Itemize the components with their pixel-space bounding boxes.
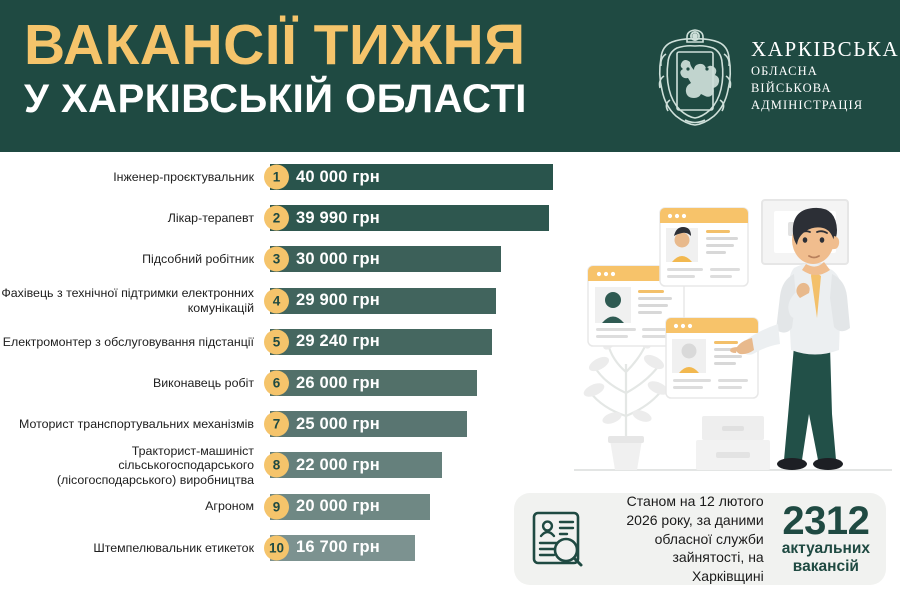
salary-bar: 29 900 грн (270, 288, 496, 314)
logo-line-3: АДМІНІСТРАЦІЯ (751, 97, 899, 114)
salary-value: 39 990 грн (296, 209, 380, 228)
job-title-label: Фахівець з технічної підтримки електронн… (0, 286, 262, 315)
vacancy-count-block: 2312 актуальних вакансій (782, 502, 870, 576)
bar-area: 40 000 грн1 (262, 162, 580, 192)
page-title: ВАКАНСІЇ ТИЖНЯ (24, 16, 624, 74)
job-title-label: Електромонтер з обслуговування підстанці… (0, 335, 262, 349)
chart-row: Електромонтер з обслуговування підстанці… (0, 327, 580, 357)
data-source-note: Станом на 12 лютого 2026 року, за даними… (598, 492, 770, 586)
bar-area: 26 000 грн6 (262, 368, 580, 398)
title-block: ВАКАНСІЇ ТИЖНЯ У ХАРКІВСЬКІЙ ОБЛАСТІ (24, 16, 624, 120)
salary-value: 25 000 грн (296, 415, 380, 434)
logo-line-2: ОБЛАСНА ВІЙСЬКОВА (751, 63, 899, 98)
salary-bar: 30 000 грн (270, 246, 501, 272)
rank-badge: 8 (264, 453, 289, 478)
rank-badge: 1 (264, 165, 289, 190)
resume-search-icon (530, 510, 586, 568)
salary-value: 30 000 грн (296, 250, 380, 269)
bar-area: 25 000 грн7 (262, 409, 580, 439)
salary-value: 26 000 грн (296, 374, 380, 393)
job-title-label: Інженер-проєктувальник (0, 170, 262, 184)
page-subtitle: У ХАРКІВСЬКІЙ ОБЛАСТІ (24, 78, 624, 120)
rank-badge: 3 (264, 247, 289, 272)
salary-value: 40 000 грн (296, 168, 380, 187)
salary-bar: 25 000 грн (270, 411, 467, 437)
chart-row: Агроном20 000 грн9 (0, 492, 580, 522)
salary-bar: 22 000 грн (270, 452, 442, 478)
chart-row: Лікар-терапевт39 990 грн2 (0, 203, 580, 233)
job-title-label: Штемпелювальник етикеток (0, 541, 262, 555)
cabinet-icon (696, 416, 770, 470)
infographic-canvas: ВАКАНСІЇ ТИЖНЯ У ХАРКІВСЬКІЙ ОБЛАСТІ (0, 0, 900, 600)
bar-area: 29 900 грн4 (262, 286, 580, 316)
job-title-label: Агроном (0, 499, 262, 513)
job-title-label: Підсобний робітник (0, 252, 262, 266)
rank-badge: 4 (264, 288, 289, 313)
vacancy-count-label-2: вакансій (782, 558, 870, 576)
chart-row: Штемпелювальник етикеток16 700 грн10 (0, 533, 580, 563)
salary-value: 29 900 грн (296, 291, 380, 310)
recruiter-illustration (566, 178, 900, 490)
salary-value: 16 700 грн (296, 538, 380, 557)
rank-badge: 6 (264, 371, 289, 396)
rank-badge: 2 (264, 206, 289, 231)
logo-text-block: ХАРКІВСЬКА ОБЛАСНА ВІЙСЬКОВА АДМІНІСТРАЦ… (751, 37, 899, 114)
salary-bar: 26 000 грн (270, 370, 477, 396)
vacancies-bar-chart: Інженер-проєктувальник40 000 грн1Лікар-т… (0, 152, 580, 600)
profile-card-bottom (666, 318, 758, 398)
bar-area: 39 990 грн2 (262, 203, 580, 233)
organization-logo: ХАРКІВСЬКА ОБЛАСНА ВІЙСЬКОВА АДМІНІСТРАЦ… (652, 22, 892, 130)
salary-bar: 40 000 грн (270, 164, 553, 190)
logo-line-1: ХАРКІВСЬКА (751, 37, 899, 63)
potted-plant-icon (582, 331, 671, 470)
rank-badge: 7 (264, 412, 289, 437)
chart-row: Тракторист-машиніст сільськогосподарсько… (0, 450, 580, 480)
rank-badge: 9 (264, 494, 289, 519)
salary-bar: 39 990 грн (270, 205, 549, 231)
salary-value: 22 000 грн (296, 456, 380, 475)
chart-row: Виконавець робіт26 000 грн6 (0, 368, 580, 398)
chart-row: Підсобний робітник30 000 грн3 (0, 244, 580, 274)
salary-bar: 20 000 грн (270, 494, 430, 520)
salary-value: 29 240 грн (296, 332, 380, 351)
rank-badge: 10 (264, 535, 289, 560)
kharkiv-oblast-coat-of-arms-icon (652, 24, 738, 128)
chart-row: Моторист транспортувальних механізмів25 … (0, 409, 580, 439)
bar-area: 30 000 грн3 (262, 244, 580, 274)
job-title-label: Виконавець робіт (0, 376, 262, 390)
vacancy-count-number: 2312 (782, 502, 870, 540)
bar-area: 29 240 грн5 (262, 327, 580, 357)
job-title-label: Тракторист-машиніст сільськогосподарсько… (0, 444, 262, 487)
summary-footer: Станом на 12 лютого 2026 року, за даними… (514, 493, 886, 585)
chart-row: Фахівець з технічної підтримки електронн… (0, 286, 580, 316)
job-title-label: Лікар-терапевт (0, 211, 262, 225)
salary-bar: 29 240 грн (270, 329, 492, 355)
header-band: ВАКАНСІЇ ТИЖНЯ У ХАРКІВСЬКІЙ ОБЛАСТІ (0, 0, 900, 152)
bar-area: 22 000 грн8 (262, 450, 580, 480)
rank-badge: 5 (264, 329, 289, 354)
salary-bar: 16 700 грн (270, 535, 415, 561)
salary-value: 20 000 грн (296, 497, 380, 516)
chart-row: Інженер-проєктувальник40 000 грн1 (0, 162, 580, 192)
vacancy-count-label-1: актуальних (782, 540, 870, 558)
profile-card-top (660, 208, 748, 286)
job-title-label: Моторист транспортувальних механізмів (0, 417, 262, 431)
